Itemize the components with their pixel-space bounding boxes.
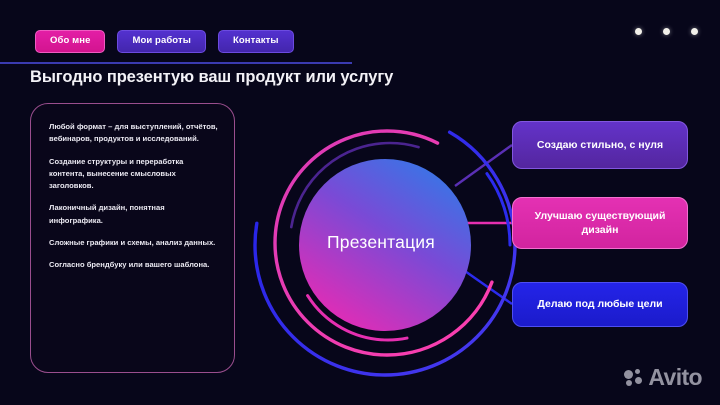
feature-button-goals[interactable]: Делаю под любые цели [512,282,688,327]
dot-icon [635,28,642,35]
nav-button-about-label: Обо мне [50,35,90,46]
feature-button-improve-label: Улучшаю существующий дизайн [525,209,675,237]
info-card-paragraph: Любой формат – для выступлений, отчётов,… [49,121,218,146]
info-card: Любой формат – для выступлений, отчётов,… [30,103,235,373]
nav-button-about[interactable]: Обо мне [35,30,105,53]
page-indicator-dots [635,28,698,35]
feature-button-create[interactable]: Создаю стильно, с нуля [512,121,688,169]
feature-button-create-label: Создаю стильно, с нуля [537,138,663,152]
page-title: Выгодно презентую ваш продукт или услугу [30,68,393,87]
nav-button-contacts-label: Контакты [233,35,279,46]
info-card-paragraph: Создание структуры и переработка контент… [49,156,218,193]
presentation-slide: Обо мне Мои работы Контакты Выгодно през… [0,0,720,405]
dot-icon [663,28,670,35]
nav-button-works[interactable]: Мои работы [117,30,205,53]
nav-button-works-label: Мои работы [132,35,190,46]
title-divider [0,62,352,64]
info-card-paragraph: Лаконичный дизайн, понятная инфографика. [49,202,218,227]
feature-button-improve[interactable]: Улучшаю существующий дизайн [512,197,688,249]
avito-logo-icon [624,369,644,387]
nav-button-contacts[interactable]: Контакты [218,30,294,53]
top-navigation: Обо мне Мои работы Контакты [35,30,294,53]
feature-button-goals-label: Делаю под любые цели [537,297,662,311]
avito-watermark: Avito [624,366,702,389]
info-card-paragraph: Сложные графики и схемы, анализ данных. [49,237,218,249]
central-diagram [240,95,530,385]
info-card-paragraph: Согласно брендбуку или вашего шаблона. [49,259,218,271]
dot-icon [691,28,698,35]
core-circle [299,159,471,331]
avito-wordmark: Avito [648,366,702,389]
